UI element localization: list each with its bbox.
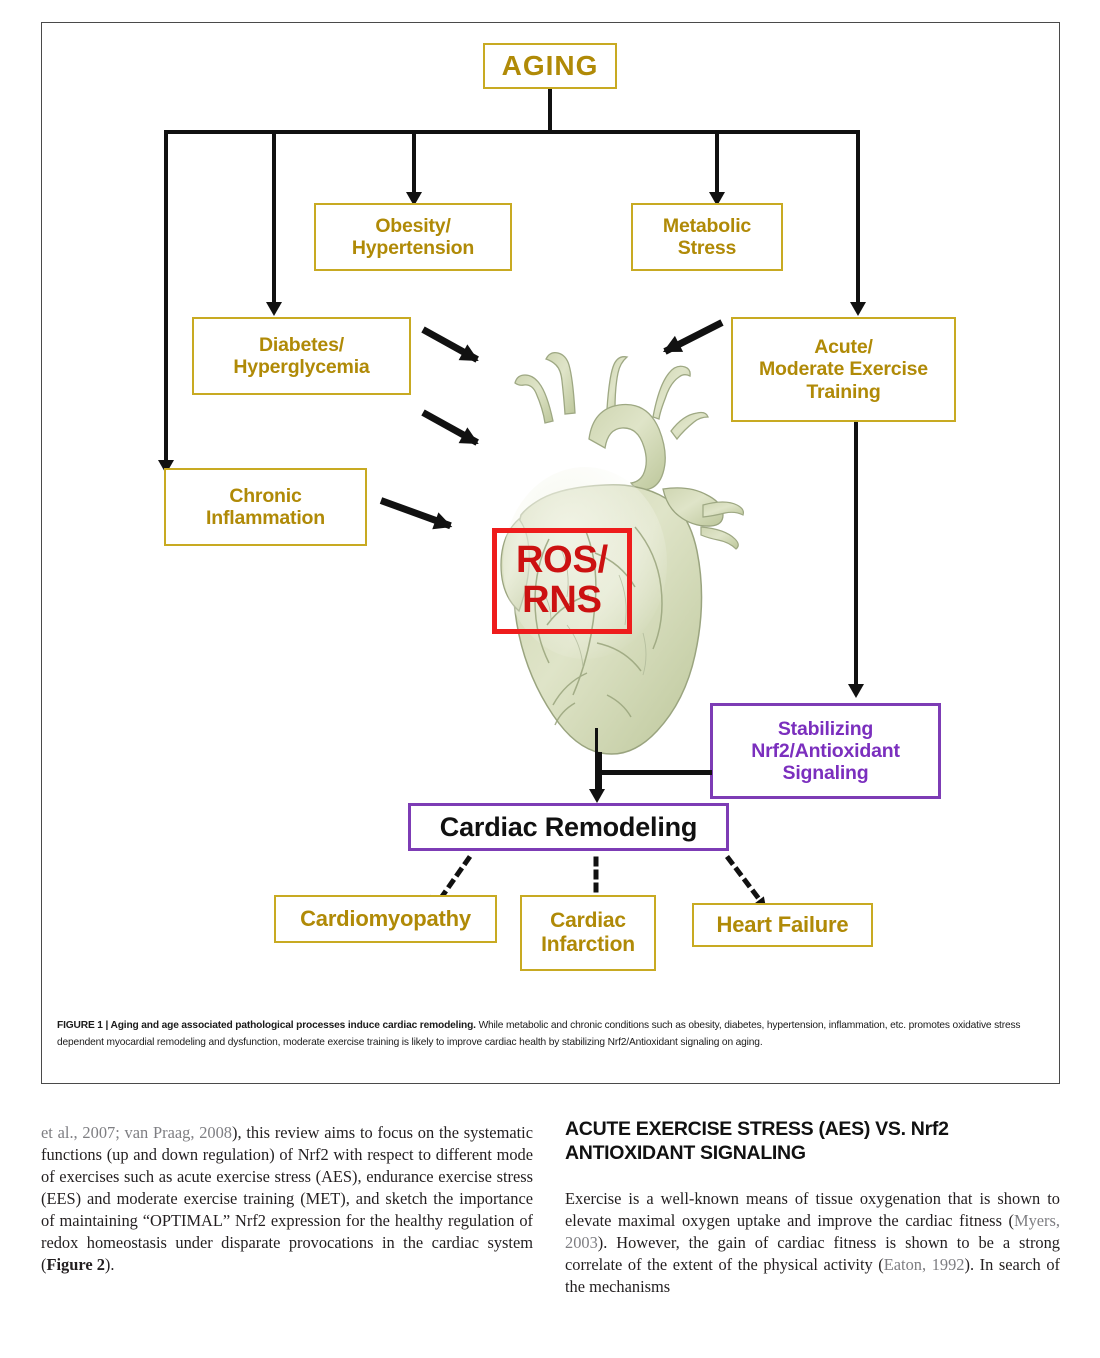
- figure-diagram: AGING Obesity/Hypertension MetabolicStre…: [42, 23, 1059, 998]
- left-column-tail: ).: [105, 1255, 115, 1274]
- node-cardiac-remodeling[interactable]: Cardiac Remodeling: [408, 803, 729, 851]
- connector-bus: [164, 130, 860, 134]
- arrowhead-exercise: [850, 302, 866, 316]
- node-ros-rns-label: ROS/RNS: [516, 541, 608, 621]
- node-diabetes-hyperglycemia[interactable]: Diabetes/Hyperglycemia: [192, 317, 411, 395]
- node-diabetes-hyperglycemia-label: Diabetes/Hyperglycemia: [233, 334, 369, 378]
- node-nrf2-signaling[interactable]: StabilizingNrf2/AntioxidantSignaling: [710, 703, 941, 799]
- node-chronic-inflammation[interactable]: ChronicInflammation: [164, 468, 367, 546]
- node-aging-label: AGING: [502, 50, 599, 82]
- figure-panel: AGING Obesity/Hypertension MetabolicStre…: [41, 22, 1060, 1084]
- arrow-diabetes-to-heart: [421, 326, 479, 362]
- body-right-column: ACUTE EXERCISE STRESS (AES) VS. Nrf2 ANT…: [565, 1118, 1060, 1298]
- left-column-text: ), this review aims to focus on the syst…: [41, 1123, 533, 1274]
- node-cardiac-infarction-label: CardiacInfarction: [541, 909, 635, 957]
- node-heart-failure[interactable]: Heart Failure: [692, 903, 873, 947]
- connector-leg-diabetes: [272, 130, 276, 306]
- connector-leg-metabolic: [715, 130, 719, 196]
- node-cardiomyopathy[interactable]: Cardiomyopathy: [274, 895, 497, 943]
- arrow-inflammation-to-heart: [380, 497, 452, 529]
- section-heading: ACUTE EXERCISE STRESS (AES) VS. Nrf2 ANT…: [565, 1118, 1060, 1166]
- connector-exercise-to-nrf2: [854, 422, 858, 688]
- node-cardiomyopathy-label: Cardiomyopathy: [300, 906, 471, 931]
- right-paragraph-part-1: Exercise is a well-known means of tissue…: [565, 1189, 1060, 1230]
- node-exercise-training-label: Acute/Moderate ExerciseTraining: [759, 336, 928, 403]
- connector-leg-obesity: [412, 130, 416, 196]
- figure-caption: FIGURE 1 | Aging and age associated path…: [57, 1018, 1045, 1051]
- node-chronic-inflammation-label: ChronicInflammation: [206, 485, 325, 529]
- figure-2-reference[interactable]: Figure 2: [46, 1255, 104, 1274]
- node-cardiac-remodeling-label: Cardiac Remodeling: [440, 812, 697, 843]
- node-metabolic-stress[interactable]: MetabolicStress: [631, 203, 783, 271]
- arrowhead-nrf2: [848, 684, 864, 698]
- figure-caption-label: FIGURE 1 |: [57, 1020, 108, 1031]
- node-cardiac-infarction[interactable]: CardiacInfarction: [520, 895, 656, 971]
- node-obesity-hypertension[interactable]: Obesity/Hypertension: [314, 203, 512, 271]
- figure-caption-title: Aging and age associated pathological pr…: [110, 1020, 475, 1031]
- node-aging[interactable]: AGING: [483, 43, 617, 89]
- body-left-column: et al., 2007; van Praag, 2008), this rev…: [41, 1122, 533, 1276]
- inhibition-arrow-line: [597, 770, 712, 775]
- connector-aging-trunk: [548, 89, 552, 133]
- citation-eaton-1992[interactable]: Eaton, 1992: [884, 1255, 965, 1274]
- node-heart-failure-label: Heart Failure: [717, 912, 849, 937]
- connector-leg-far-left: [164, 130, 168, 464]
- inhibition-arrow-bar: [597, 752, 602, 792]
- node-nrf2-signaling-label: StabilizingNrf2/AntioxidantSignaling: [751, 718, 899, 785]
- left-column-citation: et al., 2007; van Praag, 2008: [41, 1123, 232, 1142]
- connector-leg-exercise: [856, 130, 860, 306]
- arrowhead-diabetes: [266, 302, 282, 316]
- right-column-paragraph: Exercise is a well-known means of tissue…: [565, 1188, 1060, 1298]
- node-ros-rns[interactable]: ROS/RNS: [492, 528, 632, 634]
- node-metabolic-stress-label: MetabolicStress: [663, 215, 751, 259]
- node-exercise-training[interactable]: Acute/Moderate ExerciseTraining: [731, 317, 956, 422]
- node-obesity-hypertension-label: Obesity/Hypertension: [352, 215, 474, 259]
